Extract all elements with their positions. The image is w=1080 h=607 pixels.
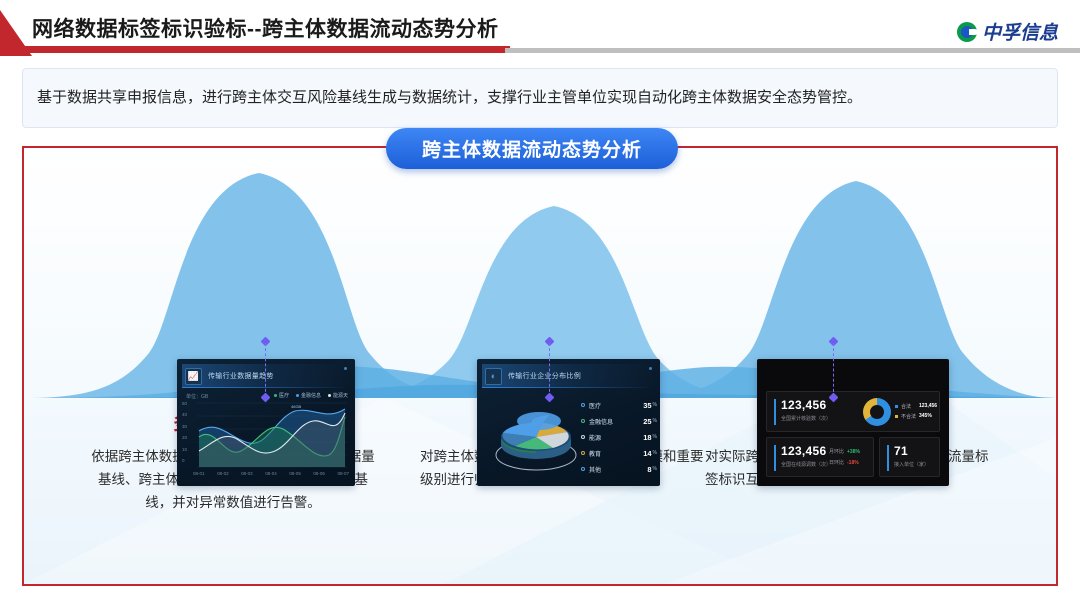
kpi-label: 全国在线源调数（次） bbox=[781, 461, 831, 468]
company-logo: 中孚信息 bbox=[957, 18, 1058, 45]
legend-item: 医疗 bbox=[274, 392, 289, 399]
company-globe-icon bbox=[957, 22, 977, 42]
pie-chart-icon: ◐ bbox=[485, 368, 502, 385]
legend-item: 金融信息 bbox=[296, 392, 321, 399]
page-title: 网络数据标签标识验标--跨主体数据流动态势分析 bbox=[32, 13, 499, 43]
connector-line bbox=[265, 343, 266, 397]
kpi-accent-bar bbox=[887, 445, 889, 471]
trend-row: 日环比 -18% bbox=[829, 457, 860, 468]
description-box: 基于数据共享申报信息，进行跨主体交互风险基线生成与数据统计，支撑行业主管单位实现… bbox=[22, 68, 1058, 128]
legend-row: 教育 14 % bbox=[581, 445, 657, 461]
kpi-value: 123,456 bbox=[781, 398, 826, 412]
panel-title: 传输行业数据量趋势 bbox=[208, 371, 274, 381]
legend-marker-icon bbox=[895, 405, 898, 408]
section-banner: 跨主体数据流动态势分析 bbox=[386, 128, 678, 169]
chart-legend: 医疗 金融信息 能源天 bbox=[274, 392, 348, 399]
legend-row: 医疗 35 % bbox=[581, 397, 657, 413]
section-banner-label: 跨主体数据流动态势分析 bbox=[422, 135, 642, 162]
legend-marker-icon bbox=[581, 435, 585, 439]
dashboard-panel-pie-distribution[interactable]: ◐ 传输行业企业分布比例 医疗 35 % bbox=[477, 359, 660, 486]
legend-marker-icon bbox=[581, 419, 585, 423]
trend-row: 月环比 +38% bbox=[829, 446, 860, 457]
kpi-card-connected-units[interactable]: 71 接入单位（家） bbox=[879, 437, 940, 477]
panel-title: 传输行业企业分布比例 bbox=[508, 371, 581, 381]
panel-header: ◐ 传输行业企业分布比例 bbox=[482, 364, 655, 388]
kpi-value: 123,456 bbox=[781, 444, 826, 458]
dashboard-panel-kpi-board[interactable]: 123,456 全国累计核验数（次） 合法 123,456 不合法 345% 1… bbox=[757, 359, 949, 486]
chart-x-axis: 08-01 08-02 08-03 08-04 08-05 08-06 08-0… bbox=[193, 471, 349, 476]
kpi-value: 71 bbox=[894, 444, 908, 458]
header-grey-bar bbox=[505, 48, 1080, 53]
kpi-card-online-queries[interactable]: 123,456 全国在线源调数（次） 月环比 +38% 日环比 -18% bbox=[766, 437, 874, 477]
pie-legend: 医疗 35 % 金融信息 25 % 能源 18 % 教育 14 % bbox=[581, 397, 657, 477]
panel-status-dot bbox=[649, 367, 652, 370]
kpi-label: 全国累计核验数（次） bbox=[781, 415, 831, 422]
kpi-accent-bar bbox=[774, 399, 776, 425]
dashboard-panel-line-trend[interactable]: 📈 传输行业数据量趋势 单位：GB 医疗 金融信息 能源天 50 40 30 2… bbox=[177, 359, 355, 486]
kpi-label: 接入单位（家） bbox=[894, 461, 929, 468]
pie-chart-3d bbox=[491, 397, 581, 477]
legend-marker-icon bbox=[581, 467, 585, 471]
chart-peak-label: 46GB bbox=[291, 404, 302, 409]
kpi-trend-stats: 月环比 +38% 日环比 -18% bbox=[829, 446, 860, 468]
connector-line bbox=[549, 343, 550, 397]
header-red-bar bbox=[20, 46, 510, 53]
connector-line bbox=[833, 343, 834, 397]
line-chart-plot: 46GB bbox=[183, 399, 349, 471]
kpi-accent-bar bbox=[774, 445, 776, 471]
company-logo-text: 中孚信息 bbox=[982, 18, 1058, 45]
kpi-card-total-verifications[interactable]: 123,456 全国累计核验数（次） 合法 123,456 不合法 345% bbox=[766, 391, 940, 432]
content-frame: 📈 传输行业数据量趋势 单位：GB 医疗 金融信息 能源天 50 40 30 2… bbox=[22, 146, 1058, 586]
donut-chart-icon bbox=[863, 398, 891, 426]
legend-row: 合法 123,456 bbox=[895, 401, 937, 411]
legend-item: 能源天 bbox=[328, 392, 348, 399]
donut-legend: 合法 123,456 不合法 345% bbox=[895, 401, 937, 421]
line-chart-icon: 📈 bbox=[185, 368, 202, 385]
legend-marker-icon bbox=[895, 415, 898, 418]
panel-status-dot bbox=[344, 367, 347, 370]
legend-row: 金融信息 25 % bbox=[581, 413, 657, 429]
legend-marker-icon bbox=[581, 403, 585, 407]
legend-row: 能源 18 % bbox=[581, 429, 657, 445]
panel-header: 📈 传输行业数据量趋势 bbox=[182, 364, 350, 388]
legend-marker-icon bbox=[581, 451, 585, 455]
description-text: 基于数据共享申报信息，进行跨主体交互风险基线生成与数据统计，支撑行业主管单位实现… bbox=[23, 87, 876, 110]
legend-row: 不合法 345% bbox=[895, 411, 937, 421]
legend-row: 其他 8 % bbox=[581, 461, 657, 477]
page-header: 网络数据标签标识验标--跨主体数据流动态势分析 中孚信息 bbox=[0, 0, 1080, 56]
